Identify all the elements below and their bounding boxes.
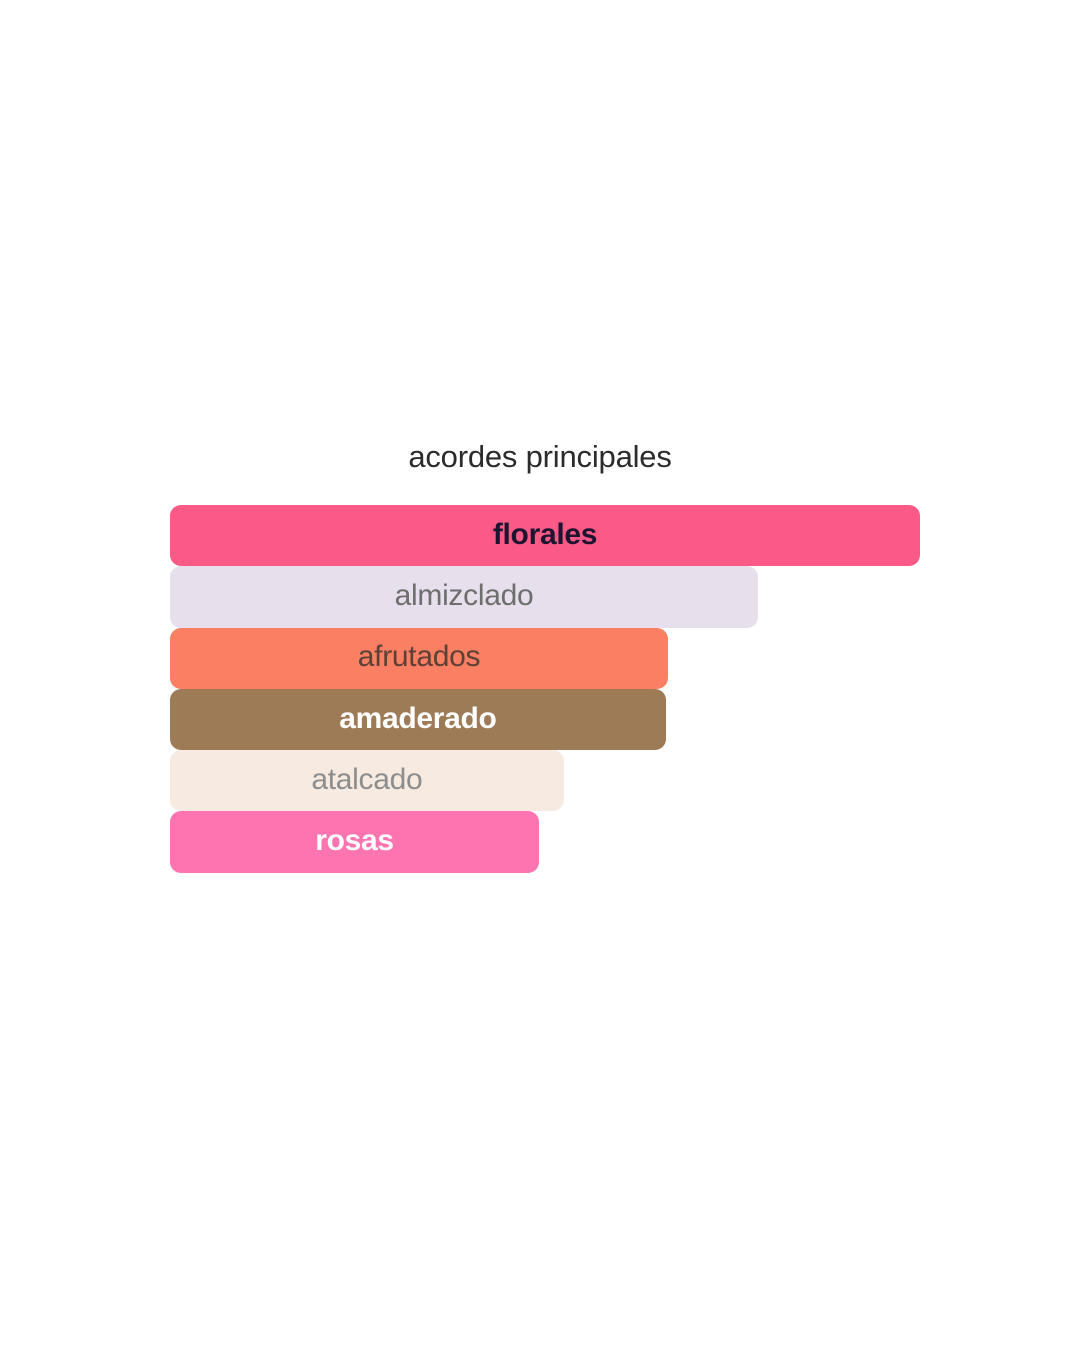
bar-label-florales: florales [493, 520, 597, 552]
bar-row: almizclado [170, 566, 920, 627]
chart-title: acordes principales [110, 437, 970, 477]
bar-row: amaderado [170, 689, 920, 750]
bar-row: rosas [170, 811, 920, 872]
bar-row: florales [170, 505, 920, 566]
bar-label-rosas: rosas [315, 826, 394, 858]
bar-label-amaderado: amaderado [339, 704, 496, 736]
bar-florales[interactable]: florales [170, 505, 920, 566]
bar-chart-bars: florales almizclado afrutados amaderado … [170, 505, 920, 875]
accords-chart-card: acordes principales florales almizclado … [110, 430, 970, 920]
bar-amaderado[interactable]: amaderado [170, 689, 666, 750]
bar-label-atalcado: atalcado [311, 765, 422, 797]
bar-label-afrutados: afrutados [358, 642, 480, 674]
bar-row: atalcado [170, 750, 920, 811]
bar-row: afrutados [170, 628, 920, 689]
bar-label-almizclado: almizclado [395, 581, 534, 613]
bar-atalcado[interactable]: atalcado [170, 750, 564, 811]
bar-almizclado[interactable]: almizclado [170, 566, 758, 627]
bar-rosas[interactable]: rosas [170, 811, 539, 872]
bar-afrutados[interactable]: afrutados [170, 628, 668, 689]
